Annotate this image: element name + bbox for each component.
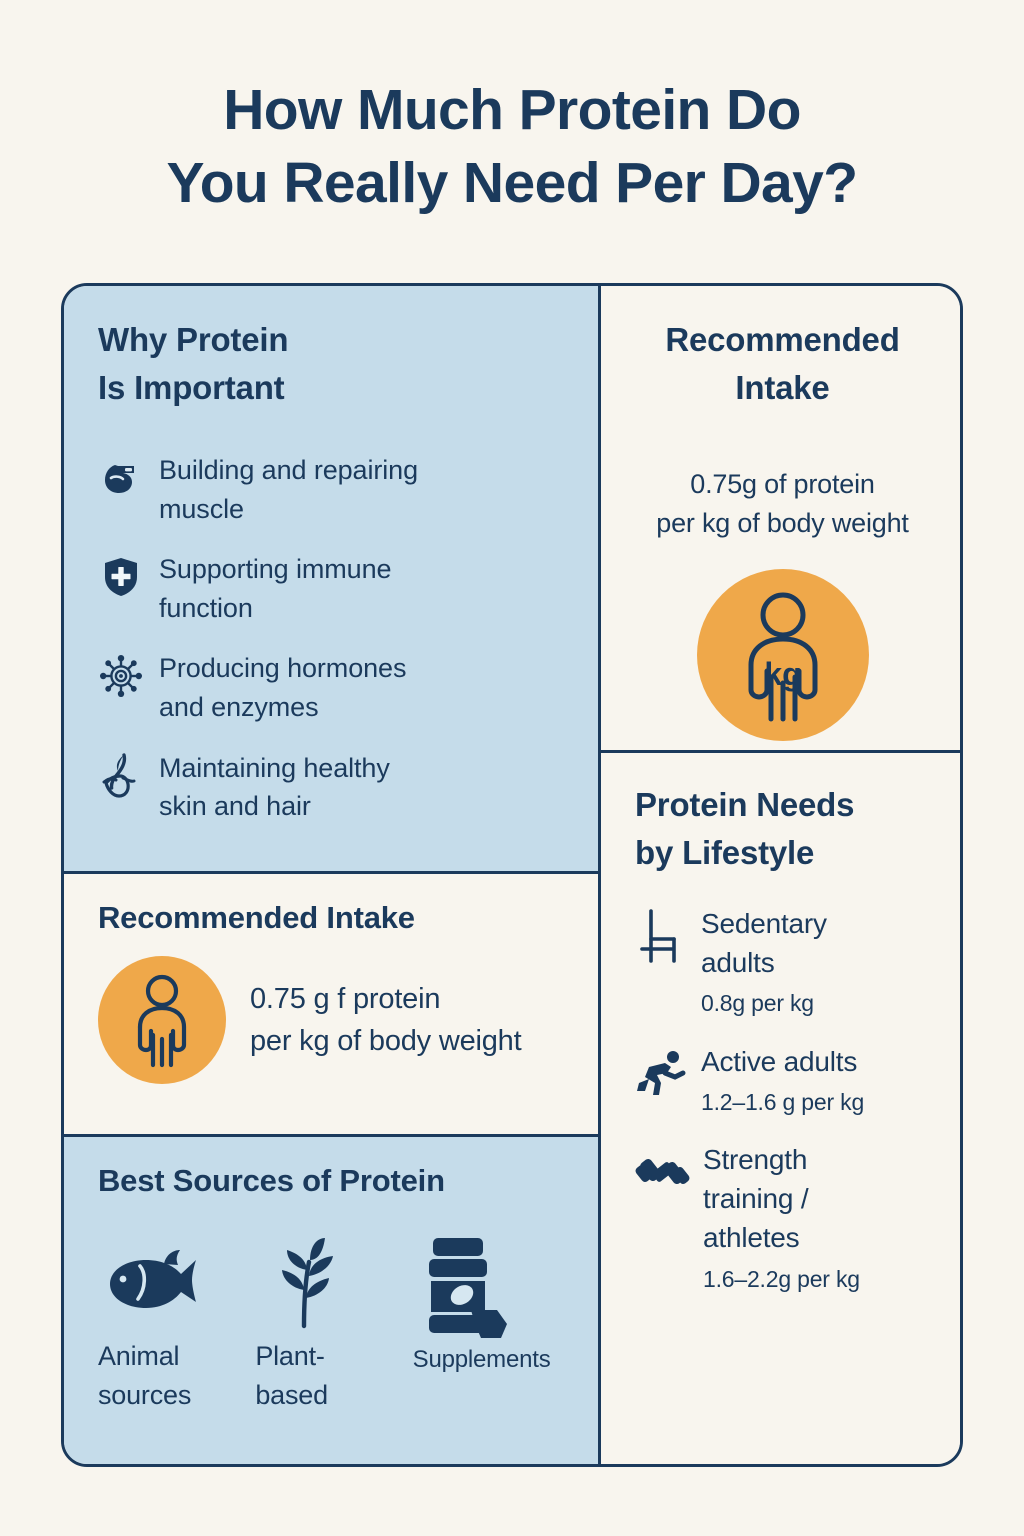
- why-protein-heading: Why Protein Is Important: [98, 316, 564, 411]
- list-item-value: 0.8g per kg: [701, 990, 814, 1016]
- panel-why-protein: Why Protein Is Important: [64, 286, 598, 874]
- person-kg-label: kg: [764, 656, 801, 692]
- panel-lifestyle: Protein Needs by Lifestyle: [601, 753, 960, 1464]
- list-item-body: Sedentary adults 0.8g per kg: [701, 904, 827, 1022]
- content-board: Why Protein Is Important: [61, 283, 963, 1467]
- person-kg-icon: kg: [697, 569, 869, 741]
- dumbbell-icon: [635, 1146, 689, 1200]
- list-item-label: Strength training / athletes: [703, 1140, 860, 1258]
- list-item: Active adults 1.2–1.6 g per kg: [635, 1042, 934, 1120]
- lifestyle-list: Sedentary adults 0.8g per kg: [635, 904, 934, 1297]
- heading-line-1: Why Protein: [98, 316, 564, 364]
- person-icon: [98, 956, 226, 1084]
- list-item: Sedentary adults 0.8g per kg: [635, 904, 934, 1022]
- panel-recommended-intake-right: Recommended Intake 0.75g of protein per …: [601, 286, 960, 753]
- heading-line-2: Is Important: [98, 364, 564, 412]
- fish-icon: [98, 1227, 202, 1337]
- panel-recommended-intake-left: Recommended Intake: [64, 874, 598, 1137]
- recommended-intake-left-value: 0.75 g f protein per kg of body weight: [250, 978, 521, 1062]
- hair-follicle-icon: [98, 753, 144, 799]
- plant-sprig-icon: [255, 1227, 347, 1337]
- list-item-value: 1.6–2.2g per kg: [703, 1266, 860, 1292]
- bicep-muscle-icon: [98, 455, 144, 501]
- list-item-value: 1.2–1.6 g per kg: [701, 1089, 864, 1115]
- list-item-label: Active adults: [701, 1042, 864, 1081]
- panel-best-sources: Best Sources of Protein Ani: [64, 1137, 598, 1464]
- list-item-label: Supplements: [413, 1343, 551, 1378]
- page-title: How Much Protein Do You Really Need Per …: [0, 74, 1024, 220]
- list-item: Producing hormones and enzymes: [98, 649, 564, 726]
- title-line-2: You Really Need Per Day?: [50, 147, 974, 220]
- left-column: Why Protein Is Important: [64, 286, 601, 1464]
- list-item-label: Sedentary adults: [701, 904, 827, 982]
- best-sources-list: Animal sources: [98, 1227, 564, 1415]
- list-item-body: Active adults 1.2–1.6 g per kg: [701, 1042, 864, 1120]
- list-item-body: Strength training / athletes 1.6–2.2g pe…: [703, 1140, 860, 1297]
- best-sources-heading: Best Sources of Protein: [98, 1163, 564, 1199]
- recommended-intake-left-body: 0.75 g f protein per kg of body weight: [98, 956, 564, 1084]
- list-item: Strength training / athletes 1.6–2.2g pe…: [635, 1140, 934, 1297]
- list-item-label: Animal sources: [98, 1337, 191, 1415]
- list-item: Animal sources: [98, 1227, 249, 1415]
- runner-icon: [635, 1048, 687, 1102]
- list-item: Supporting immune function: [98, 550, 564, 627]
- chair-icon: [635, 910, 687, 964]
- right-column: Recommended Intake 0.75g of protein per …: [601, 286, 960, 1464]
- supplement-jar-icon: [413, 1233, 511, 1343]
- recommended-intake-right-heading: Recommended Intake: [635, 316, 930, 411]
- list-item: Maintaining healthy skin and hair: [98, 749, 564, 826]
- list-item-label: Supporting immune function: [159, 550, 391, 627]
- why-protein-list: Building and repairing muscle: [98, 451, 564, 826]
- list-item-label: Maintaining healthy skin and hair: [159, 749, 390, 826]
- list-item-label: Building and repairing muscle: [159, 451, 418, 528]
- list-item-label: Plant- based: [255, 1337, 328, 1415]
- recommended-intake-left-heading: Recommended Intake: [98, 900, 564, 936]
- recommended-intake-right-value: 0.75g of protein per kg of body weight: [635, 465, 930, 543]
- lifestyle-heading: Protein Needs by Lifestyle: [635, 781, 934, 876]
- title-line-1: How Much Protein Do: [223, 78, 801, 142]
- list-item: Building and repairing muscle: [98, 451, 564, 528]
- list-item: Plant- based: [255, 1227, 406, 1415]
- list-item-label: Producing hormones and enzymes: [159, 649, 406, 726]
- hormone-molecule-icon: [98, 653, 144, 699]
- list-item: Supplements: [413, 1227, 564, 1378]
- infographic-page: How Much Protein Do You Really Need Per …: [0, 0, 1024, 1536]
- shield-plus-icon: [98, 554, 144, 600]
